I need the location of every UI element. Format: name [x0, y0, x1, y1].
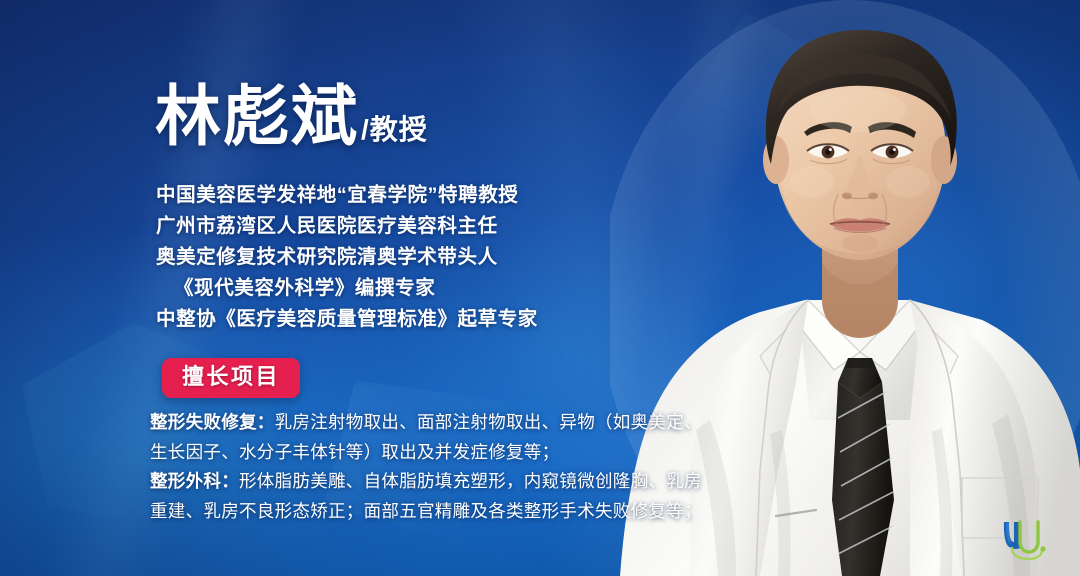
- specialty-line: 整形失败修复：乳房注射物取出、面部注射物取出、异物（如奥美定、: [150, 408, 750, 438]
- credential-item: 中整协《医疗美容质量管理标准》起草专家: [156, 304, 676, 335]
- credential-item: 奥美定修复技术研究院清奥学术带头人: [156, 242, 676, 273]
- specialty-line: 生长因子、水分子丰体针等）取出及并发症修复等；: [150, 438, 750, 468]
- clinic-logo: [990, 514, 1052, 562]
- credential-item: 广州市荔湾区人民医院医疗美容科主任: [156, 211, 676, 242]
- doctor-profile-banner: 林彪斌 /教授 中国美容医学发祥地“宜春学院”特聘教授 广州市荔湾区人民医院医疗…: [0, 0, 1080, 576]
- specialty-text: 乳房注射物取出、面部注射物取出、异物（如奥美定、: [275, 412, 702, 432]
- credential-item: 中国美容医学发祥地“宜春学院”特聘教授: [156, 180, 676, 211]
- specialty-line: 重建、乳房不良形态矫正；面部五官精雕及各类整形手术失败修复等；: [150, 497, 750, 527]
- doctor-title-suffix: /教授: [361, 116, 428, 144]
- logo-green-dot: [1040, 546, 1045, 551]
- specialty-text: 形体脂肪美雕、自体脂肪填充塑形，内窥镜微创隆胸、乳房: [239, 471, 702, 491]
- credentials-list: 中国美容医学发祥地“宜春学院”特聘教授 广州市荔湾区人民医院医疗美容科主任 奥美…: [156, 180, 676, 335]
- specialties-list: 整形失败修复：乳房注射物取出、面部注射物取出、异物（如奥美定、 生长因子、水分子…: [150, 408, 750, 526]
- specialty-text: 生长因子、水分子丰体针等）取出及并发症修复等；: [150, 442, 559, 462]
- specialty-label: 整形失败修复：: [150, 412, 275, 432]
- specialty-badge-label: 擅长项目: [182, 364, 280, 389]
- doctor-name: 林彪斌: [155, 83, 359, 149]
- banner-content: 林彪斌 /教授 中国美容医学发祥地“宜春学院”特聘教授 广州市荔湾区人民医院医疗…: [150, 0, 770, 576]
- doctor-name-row: 林彪斌 /教授: [155, 83, 428, 149]
- specialty-line: 整形外科：形体脂肪美雕、自体脂肪填充塑形，内窥镜微创隆胸、乳房: [150, 467, 750, 497]
- specialty-label: 整形外科：: [150, 471, 239, 491]
- logo-green-arc: [1020, 522, 1038, 552]
- credential-item: 《现代美容外科学》编撰专家: [156, 273, 676, 304]
- specialty-badge[interactable]: 擅长项目: [162, 358, 300, 398]
- specialty-text: 重建、乳房不良形态矫正；面部五官精雕及各类整形手术失败修复等；: [150, 501, 702, 521]
